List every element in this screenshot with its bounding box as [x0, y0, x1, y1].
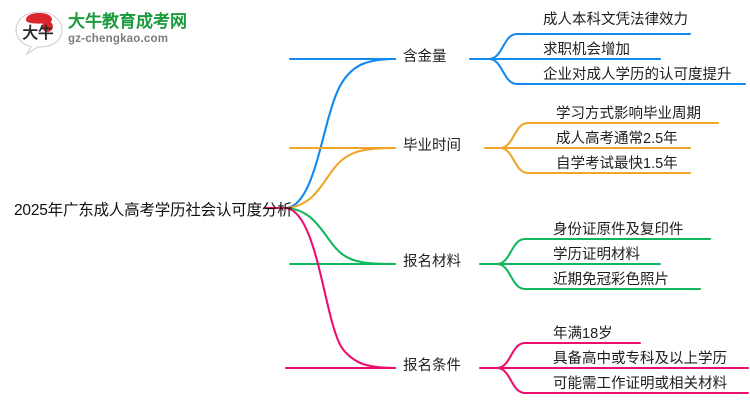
leaf-label-2-1[interactable]: 学习方式影响毕业周期 [556, 102, 701, 123]
branch-stem-1 [286, 59, 396, 208]
branch-stem-4 [286, 208, 396, 368]
branch-label-含金量[interactable]: 含金量 [403, 45, 447, 66]
branch-label-报名材料[interactable]: 报名材料 [403, 250, 461, 271]
leaf-label-2-3[interactable]: 自学考试最快1.5年 [556, 152, 678, 173]
leaf-label-4-3[interactable]: 可能需工作证明或相关材料 [553, 372, 727, 393]
leaf-label-4-1[interactable]: 年满18岁 [553, 322, 613, 343]
mindmap-root-label[interactable]: 2025年广东成人高考学历社会认可度分析 [14, 198, 292, 220]
branch-label-毕业时间[interactable]: 毕业时间 [403, 134, 461, 155]
leaf-label-1-3[interactable]: 企业对成人学历的认可度提升 [543, 63, 732, 84]
branch-stem-2 [286, 148, 396, 208]
leaf-label-3-2[interactable]: 学历证明材料 [553, 243, 640, 264]
leaf-label-2-2[interactable]: 成人高考通常2.5年 [556, 127, 678, 148]
leaf-label-3-3[interactable]: 近期免冠彩色照片 [553, 268, 669, 289]
leaf-label-1-2[interactable]: 求职机会增加 [543, 38, 630, 59]
leaf-label-3-1[interactable]: 身份证原件及复印件 [553, 218, 684, 239]
leaf-label-4-2[interactable]: 具备高中或专科及以上学历 [553, 347, 727, 368]
leaf-label-1-1[interactable]: 成人本科文凭法律效力 [543, 8, 688, 29]
branch-label-报名条件[interactable]: 报名条件 [403, 354, 461, 375]
branch-stem-3 [286, 208, 396, 264]
mindmap-canvas: 大牛 大牛教育成考网 gz-chengkao.com [0, 0, 750, 410]
